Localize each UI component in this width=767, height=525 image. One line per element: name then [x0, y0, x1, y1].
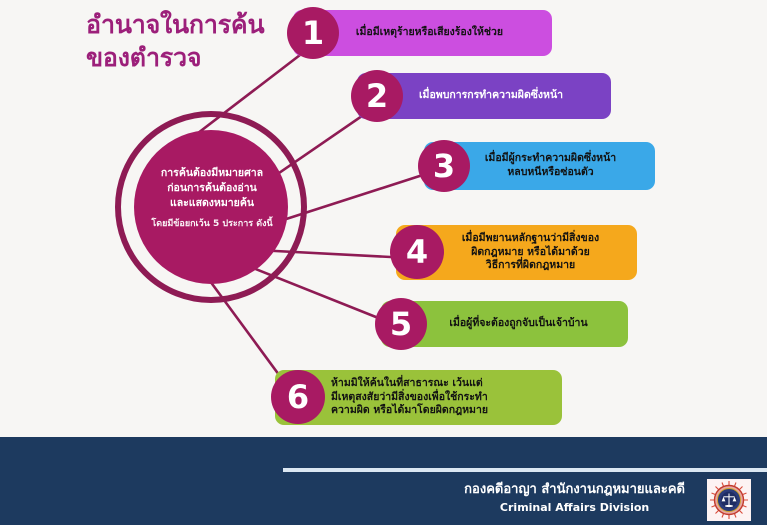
list-item-2[interactable]: เมื่อพบการกรทำความผิดซึ่งหน้า 2 — [357, 73, 611, 119]
item-4-text-line-2: ผิดกฎหมาย หรือได้มาด้วย — [462, 246, 599, 260]
item-6-text-line-1: ห้ามมิให้ค้นในที่สาธารณะ เว้นแต่ — [331, 377, 488, 391]
item-6-text-line-2: มีเหตุสงสัยว่ามีสิ่งของเพื่อใช้กระทำ — [331, 391, 488, 405]
item-number-4[interactable]: 4 — [390, 225, 444, 279]
item-number-1[interactable]: 1 — [287, 7, 339, 59]
item-4-text-line-1: เมื่อมีพยานหลักฐานว่ามีสิ่งของ — [462, 232, 599, 246]
item-4-text-line-3: วิธีการที่ผิดกฎหมาย — [462, 259, 599, 273]
footer-organization-english: Criminal Affairs Division — [464, 500, 685, 516]
item-3-text-line-2: หลบหนีหรือซ่อนตัว — [485, 166, 616, 180]
page-title-line-2: ของตำรวจ — [86, 41, 316, 74]
item-number-6[interactable]: 6 — [271, 370, 325, 424]
item-3-text-line-1: เมื่อมีผู้กระทำความผิดซึ่งหน้า — [485, 152, 616, 166]
item-6-text-line-3: ความผิด หรือได้มาโดยผิดกฎหมาย — [331, 404, 488, 418]
list-item-1[interactable]: เมื่อมีเหตุร้ายหรือเสียงร้องให้ช่วย 1 — [293, 10, 552, 56]
page-title: อำนาจในการค้น ของตำรวจ — [86, 8, 316, 74]
item-number-2[interactable]: 2 — [351, 70, 403, 122]
list-item-3[interactable]: เมื่อมีผู้กระทำความผิดซึ่งหน้า หลบหนีหรื… — [424, 142, 655, 190]
item-2-text-line-1: เมื่อพบการกรทำความผิดซึ่งหน้า — [419, 89, 563, 103]
item-1-text-line-1: เมื่อมีเหตุร้ายหรือเสียงร้องให้ช่วย — [356, 26, 503, 40]
page-title-line-1: อำนาจในการค้น — [86, 8, 316, 41]
list-item-6[interactable]: ห้ามมิให้ค้นในที่สาธารณะ เว้นแต่ มีเหตุส… — [275, 370, 562, 425]
list-item-5[interactable]: เมื่อผู้ที่จะต้องถูกจับเป็นเจ้าบ้าน 5 — [381, 301, 628, 347]
footer-organization-thai: กองคดีอาญา สำนักงานกฎหมายและคดี — [464, 481, 685, 500]
center-disc — [134, 130, 288, 284]
item-5-text-line-1: เมื่อผู้ที่จะต้องถูกจับเป็นเจ้าบ้าน — [449, 317, 587, 331]
item-number-3[interactable]: 3 — [418, 140, 470, 192]
list-item-4[interactable]: เมื่อมีพยานหลักฐานว่ามีสิ่งของ ผิดกฎหมาย… — [396, 225, 637, 280]
footer-bar: กองคดีอาญา สำนักงานกฎหมายและคดี Criminal… — [0, 437, 767, 525]
footer-divider — [283, 468, 767, 472]
police-legal-affairs-emblem — [707, 479, 751, 521]
footer-organization: กองคดีอาญา สำนักงานกฎหมายและคดี Criminal… — [464, 481, 685, 516]
item-number-5[interactable]: 5 — [375, 298, 427, 350]
infographic-slide: อำนาจในการค้น ของตำรวจ การค้นต้องมีหมายศ… — [0, 0, 767, 525]
